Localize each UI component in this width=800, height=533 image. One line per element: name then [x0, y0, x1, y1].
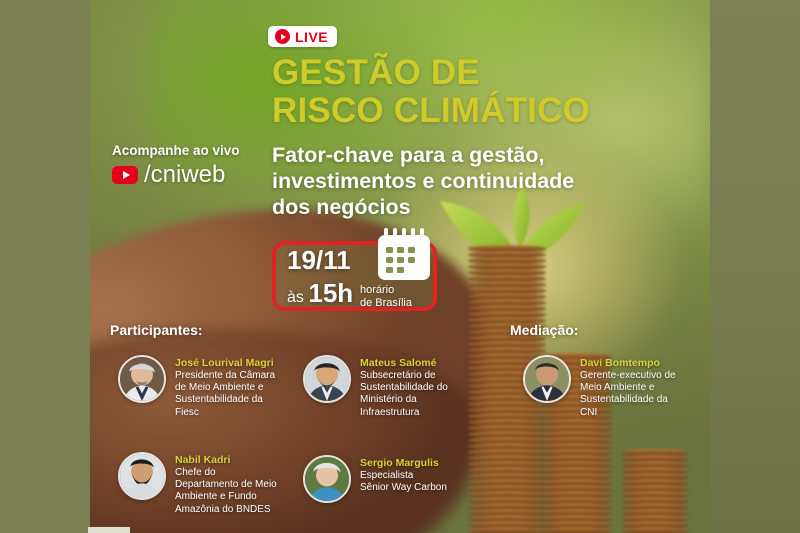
participants-heading: Participantes: — [110, 322, 203, 338]
participant-card-nabil-kadri: Nabil Kadri Chefe do Departamento de Mei… — [118, 452, 277, 516]
participant-role-line: Ambiente e Fundo — [175, 491, 277, 503]
watch-live-block: Acompanhe ao vivo /cniweb — [112, 143, 272, 187]
calendar-icon — [375, 228, 433, 282]
avatar — [523, 355, 571, 403]
participant-role-line: Especialista — [360, 470, 447, 482]
participant-name: Mateus Salomé — [360, 357, 448, 370]
youtube-handle[interactable]: /cniweb — [144, 163, 225, 187]
title-line-1: GESTÃO DE — [272, 54, 742, 92]
participant-role-line: Departamento de Meio — [175, 479, 277, 491]
page-title: GESTÃO DE RISCO CLIMÁTICO — [272, 54, 742, 130]
page-subtitle: Fator-chave para a gestão, investimentos… — [272, 143, 672, 220]
watch-live-label: Acompanhe ao vivo — [112, 143, 272, 158]
participant-role-line: Fiesc — [175, 407, 275, 419]
play-circle-icon — [275, 29, 290, 44]
timezone-line-1: horário — [360, 284, 450, 297]
subtitle-line-1: Fator-chave para a gestão, — [272, 143, 672, 169]
participant-card-mateus-salome: Mateus Salomé Subsecretário de Sustentab… — [303, 355, 448, 419]
participant-role-line: Infraestrutura — [360, 407, 448, 419]
participant-name: José Lourival Magri — [175, 357, 275, 370]
participant-name: Sergio Margulis — [360, 457, 447, 470]
event-time: 15h — [308, 278, 353, 308]
live-label: LIVE — [295, 30, 328, 44]
timezone-line-2: de Brasília — [360, 297, 450, 310]
avatar — [303, 455, 351, 503]
webinar-promo-banner: LIVE GESTÃO DE RISCO CLIMÁTICO Fator-cha… — [0, 0, 800, 533]
moderator-role-line: Sustentabilidade da — [580, 394, 676, 406]
participant-role-line: Sênior Way Carbon — [360, 482, 447, 494]
youtube-icon[interactable] — [112, 166, 138, 184]
participant-role-line: Subsecretário de — [360, 370, 448, 382]
moderator-role-line: CNI — [580, 407, 676, 419]
participant-role-line: Amazônia do BNDES — [175, 504, 277, 516]
subtitle-line-3: dos negócios — [272, 195, 672, 221]
participant-role-line: Sustentabilidade da — [175, 394, 275, 406]
moderator-role-line: Gerente-executivo de — [580, 370, 676, 382]
participant-card-jose-lourival-magri: José Lourival Magri Presidente da Câmara… — [118, 355, 275, 419]
participant-role-line: de Meio Ambiente e — [175, 382, 275, 394]
banner-content: LIVE GESTÃO DE RISCO CLIMÁTICO Fator-cha… — [0, 0, 800, 533]
participant-role-line: Ministério da — [360, 394, 448, 406]
avatar — [303, 355, 351, 403]
moderator-card-davi-bomtempo: Davi Bomtempo Gerente-executivo de Meio … — [523, 355, 676, 419]
subtitle-line-2: investimentos e continuidade — [272, 169, 672, 195]
avatar — [118, 452, 166, 500]
event-date: 19/11 — [287, 247, 353, 273]
participant-role-line: Sustentabilidade do — [360, 382, 448, 394]
moderator-role-line: Meio Ambiente e — [580, 382, 676, 394]
participant-card-sergio-margulis: Sergio Margulis Especialista Sênior Way … — [303, 455, 447, 503]
time-prefix: às — [287, 289, 304, 306]
timezone-block: horário de Brasília — [358, 228, 450, 311]
live-badge[interactable]: LIVE — [268, 26, 337, 47]
moderation-heading: Mediação: — [510, 322, 578, 338]
participant-role-line: Chefe do — [175, 467, 277, 479]
participant-role-line: Presidente da Câmara — [175, 370, 275, 382]
avatar — [118, 355, 166, 403]
title-line-2: RISCO CLIMÁTICO — [272, 92, 742, 130]
participant-name: Nabil Kadri — [175, 454, 277, 467]
moderator-name: Davi Bomtempo — [580, 357, 676, 370]
